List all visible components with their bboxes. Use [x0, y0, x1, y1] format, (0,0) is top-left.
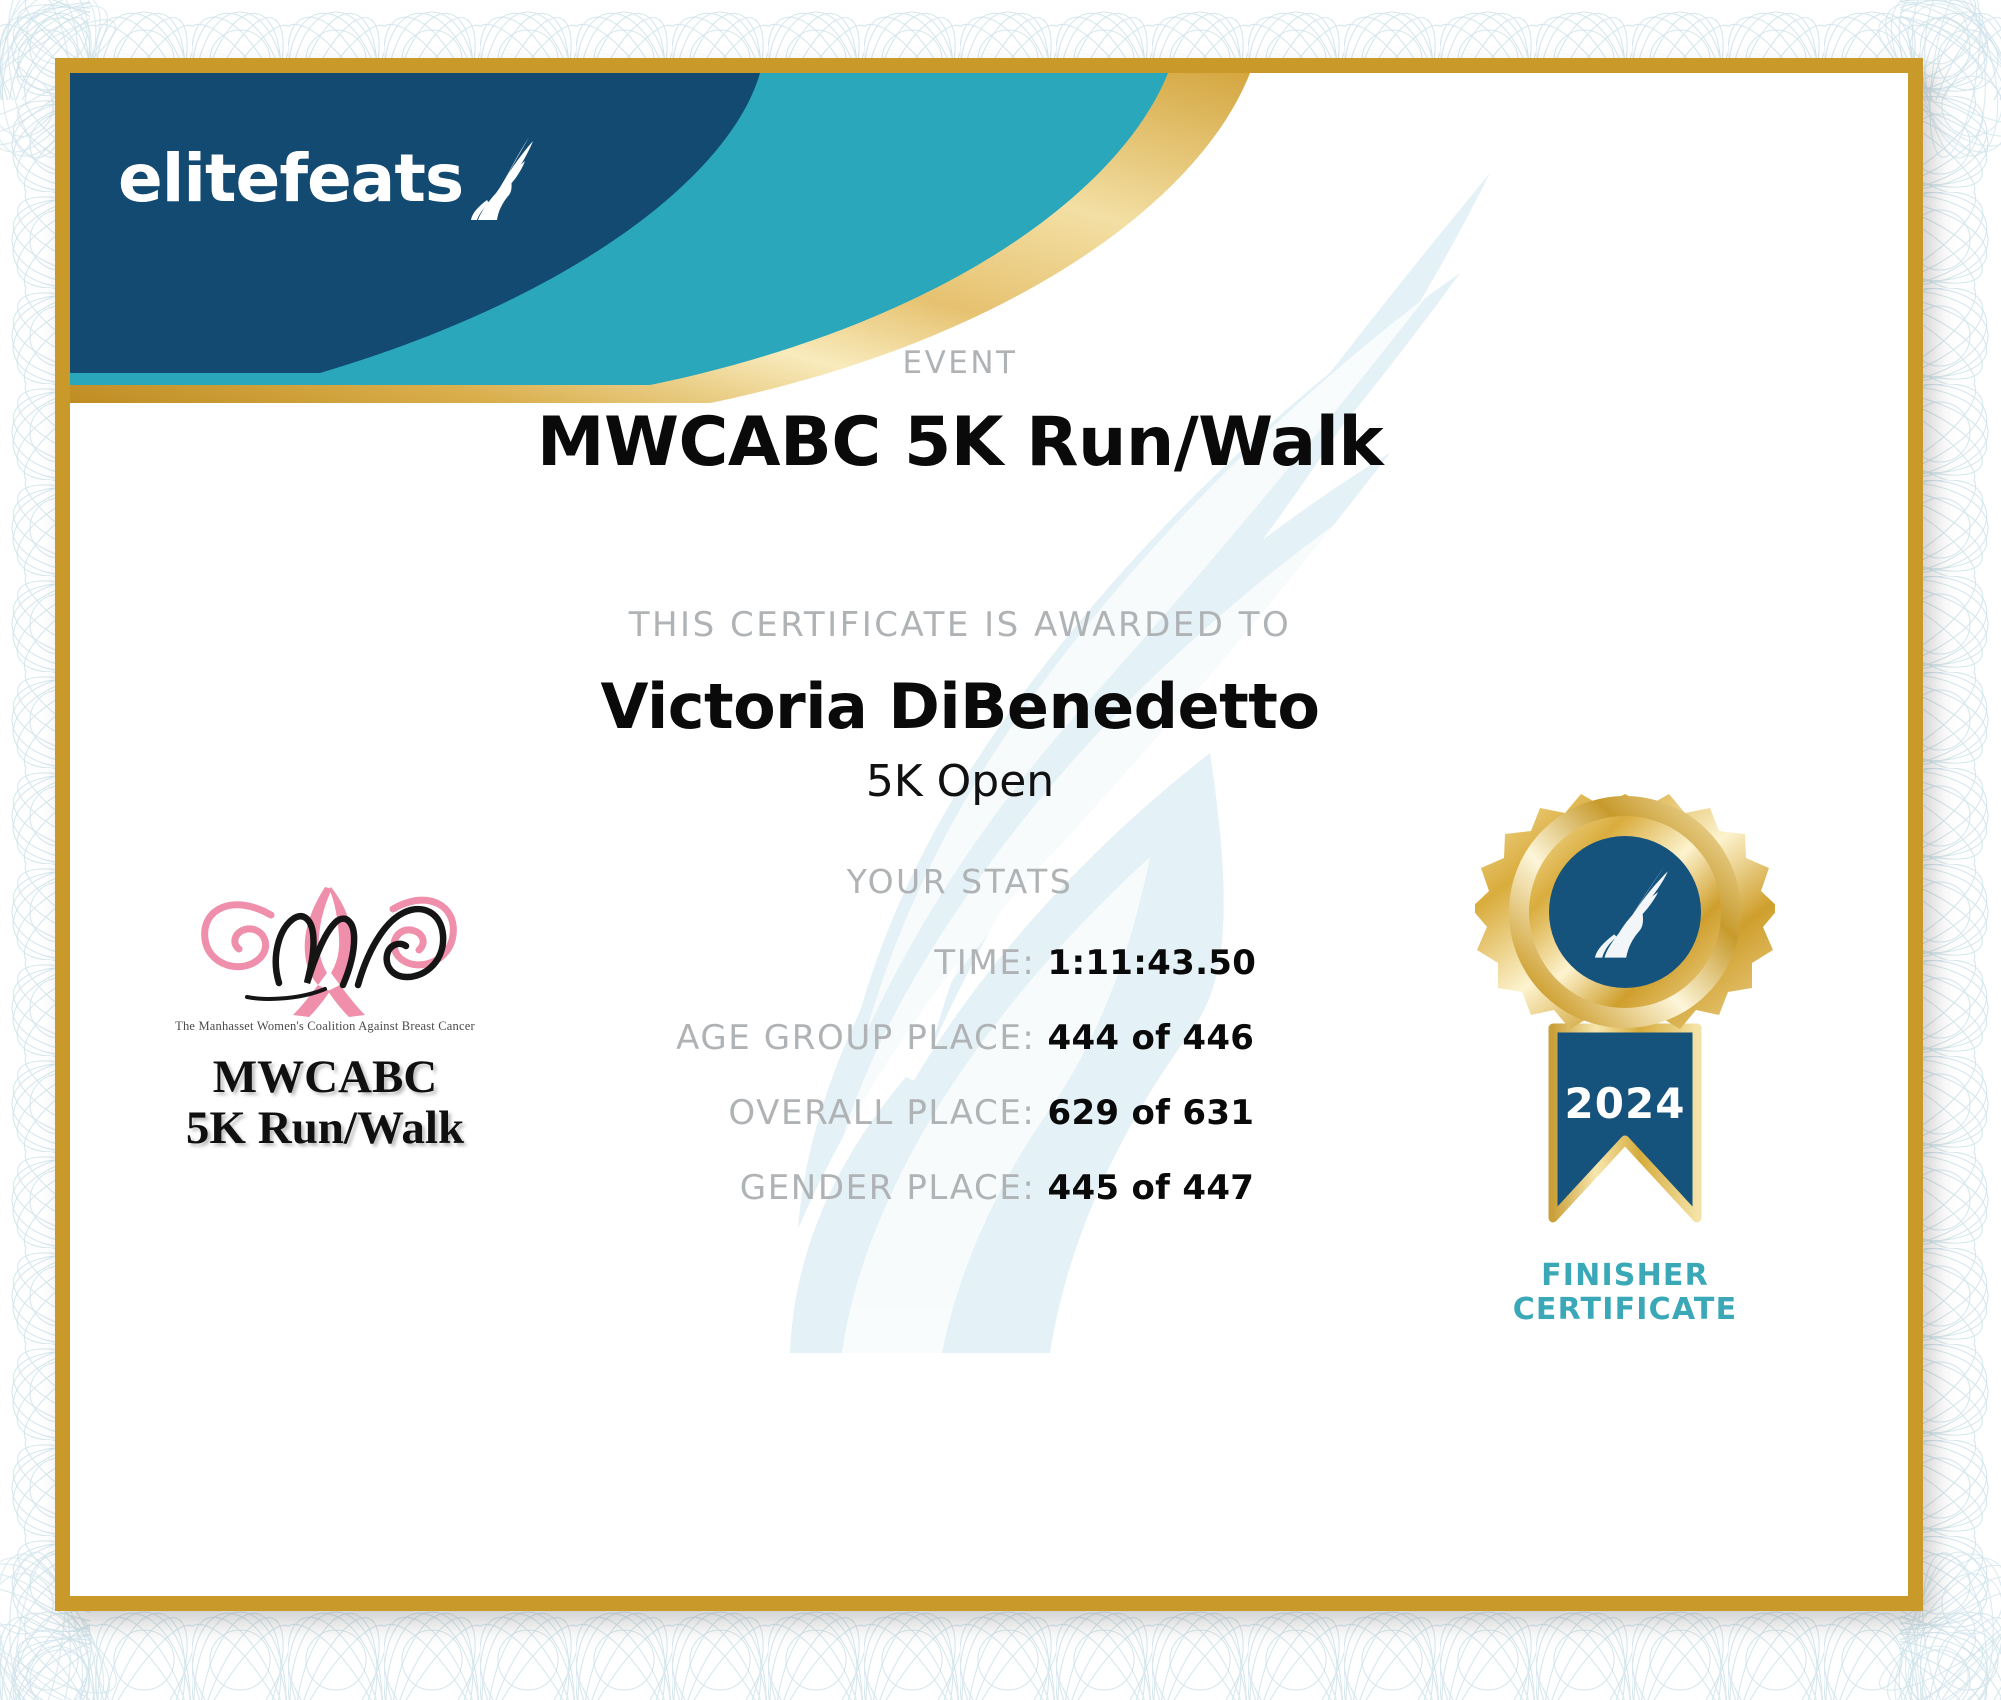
certificate-content: EVENT MWCABC 5K Run/Walk THIS CERTIFICAT… [70, 73, 1908, 1596]
medal-caption-line2: CERTIFICATE [1475, 1293, 1775, 1327]
recipient-name: Victoria DiBenedetto [290, 670, 1630, 743]
stat-value-overall-place: 629 of 631 [1048, 1093, 1257, 1133]
medal-caption-line1: FINISHER [1475, 1259, 1775, 1293]
certificate-body: elitefeats EVENT MWCABC 5K Run/Walk [70, 73, 1908, 1596]
stat-label-gender-place: GENDER PLACE: [664, 1168, 1048, 1208]
event-logo-name-line2: 5K Run/Walk [145, 1103, 505, 1154]
event-label: EVENT [290, 345, 1630, 381]
medal-caption: FINISHER CERTIFICATE [1475, 1259, 1775, 1326]
stat-label-age-group-place: AGE GROUP PLACE: [664, 1018, 1048, 1058]
medal-rosette-icon: 2024 [1475, 788, 1775, 1248]
stat-row-gender-place: GENDER PLACE: 445 of 447 [290, 1168, 1630, 1232]
event-organization-logo: The Manhasset Women's Coalition Against … [145, 873, 505, 1154]
stat-label-overall-place: OVERALL PLACE: [664, 1093, 1048, 1133]
stat-value-gender-place: 445 of 447 [1048, 1168, 1257, 1208]
awarded-to-label: THIS CERTIFICATE IS AWARDED TO [290, 605, 1630, 645]
organization-tagline: The Manhasset Women's Coalition Against … [145, 1019, 505, 1034]
finisher-medal: 2024 FINISHER CERTIFICATE [1475, 788, 1775, 1326]
event-logo-name-line1: MWCABC [145, 1052, 505, 1103]
pink-ribbon-monogram-icon [175, 873, 475, 1023]
certificate-page: elitefeats EVENT MWCABC 5K Run/Walk [0, 0, 2001, 1700]
medal-year: 2024 [1565, 1079, 1686, 1128]
division-label: 5K Open [290, 756, 1630, 807]
stat-label-time: TIME: [664, 943, 1048, 983]
stat-value-age-group-place: 444 of 446 [1048, 1018, 1257, 1058]
event-title: MWCABC 5K Run/Walk [290, 403, 1630, 482]
stat-value-time: 1:11:43.50 [1048, 943, 1257, 983]
certificate-gold-frame: elitefeats EVENT MWCABC 5K Run/Walk [55, 58, 1923, 1611]
event-logo-name: MWCABC 5K Run/Walk [145, 1052, 505, 1154]
